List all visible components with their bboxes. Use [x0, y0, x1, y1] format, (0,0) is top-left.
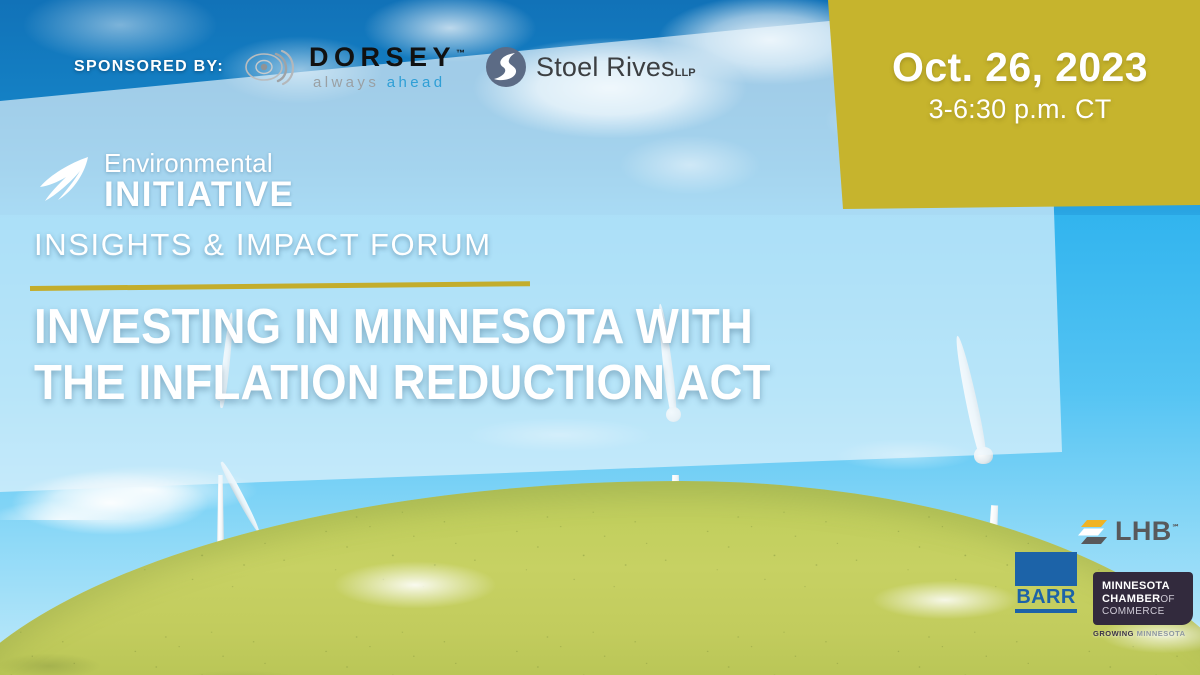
chamber-badge-icon: MINNESOTA CHAMBEROF COMMERCE — [1093, 572, 1193, 625]
sponsor-logo-mn-chamber: MINNESOTA CHAMBEROF COMMERCE GROWING MIN… — [1093, 572, 1193, 638]
lhb-service-mark: ℠ — [1172, 523, 1180, 532]
stoel-rives-llp: LLP — [675, 67, 696, 79]
lhb-wordmark: LHB℠ — [1115, 518, 1180, 545]
page-title: INVESTING IN MINNESOTA WITH THE INFLATIO… — [34, 300, 871, 412]
event-date: Oct. 26, 2023 — [861, 46, 1179, 89]
chamber-line-chamber: CHAMBEROF — [1102, 593, 1185, 606]
event-promo-graphic: SPONSORED BY: DORSEY™ always ahead Stoel… — [0, 0, 1200, 675]
cloud-left — [0, 455, 240, 545]
stoel-rives-river-icon — [485, 46, 527, 88]
chamber-word-of: OF — [1160, 594, 1175, 605]
sponsor-logo-lhb: LHB℠ — [1078, 518, 1180, 545]
dorsey-swirl-icon — [244, 47, 300, 87]
top-sponsor-row: SPONSORED BY: DORSEY™ always ahead Stoel… — [74, 44, 696, 90]
barr-wordmark: BARR — [1015, 587, 1077, 608]
forum-series-label: INSIGHTS & IMPACT FORUM — [34, 227, 492, 263]
environmental-initiative-logo: Environmental INITIATIVE — [36, 150, 294, 212]
sponsored-by-label: SPONSORED BY: — [74, 58, 224, 76]
headline-line-2: THE INFLATION REDUCTION ACT — [34, 356, 871, 412]
chamber-line-commerce: COMMERCE — [1102, 606, 1185, 618]
stoel-rives-wordmark: Stoel RivesLLP — [536, 52, 696, 83]
ei-line-initiative: INITIATIVE — [104, 177, 294, 212]
dorsey-trademark: ™ — [456, 48, 465, 58]
sponsor-logo-stoel-rives: Stoel RivesLLP — [485, 46, 696, 88]
sponsor-logo-dorsey: DORSEY™ always ahead — [244, 44, 465, 90]
event-time: 3-6:30 p.m. CT — [861, 94, 1179, 125]
barr-underline-rule — [1015, 609, 1077, 613]
cloud-center — [300, 545, 530, 625]
dorsey-wordmark: DORSEY™ — [309, 44, 465, 71]
headline-line-1: INVESTING IN MINNESOTA WITH — [34, 300, 871, 356]
event-date-block: Oct. 26, 2023 3-6:30 p.m. CT — [861, 46, 1179, 125]
dorsey-wordmark-group: DORSEY™ always ahead — [309, 44, 465, 90]
chamber-tagline: GROWING MINNESOTA — [1093, 629, 1193, 638]
sponsor-logo-barr: BARR — [1015, 552, 1077, 613]
ei-line-environmental: Environmental — [104, 150, 294, 176]
chamber-line-minnesota: MINNESOTA — [1102, 580, 1185, 593]
lhb-slash-icon — [1078, 519, 1108, 545]
barr-block-icon — [1015, 552, 1077, 586]
ei-wing-mark-icon — [36, 153, 94, 209]
ei-wordmark-group: Environmental INITIATIVE — [104, 150, 294, 212]
dorsey-tagline: always ahead — [313, 75, 465, 90]
